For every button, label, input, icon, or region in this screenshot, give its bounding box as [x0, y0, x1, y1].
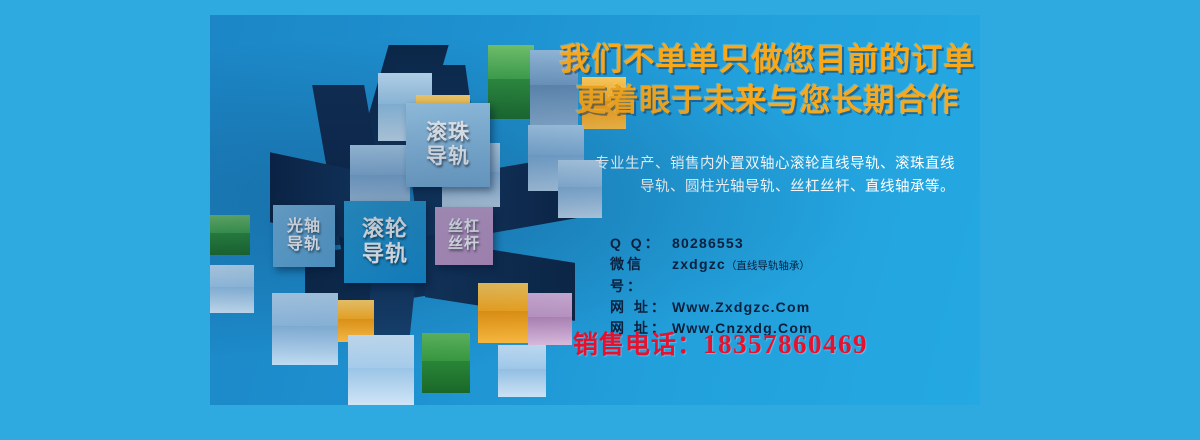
promotional-banner: 滚珠 导轨 光轴 导轨 滚轮 导轨 丝杠 丝杆 我们不单单只做您目前的订单 更着…	[210, 15, 980, 405]
label-line-2: 导轨	[426, 145, 470, 169]
contact-key: Q Q：	[610, 233, 672, 254]
contact-value[interactable]: Www.Zxdgzc.Com	[672, 297, 810, 318]
sales-phone-number: 18357860469	[703, 329, 868, 360]
label-roller-guide-rail[interactable]: 滚轮 导轨	[344, 201, 426, 283]
headline: 我们不单单只做您目前的订单 更着眼于未来与您长期合作	[555, 40, 980, 122]
contact-value: 80286553	[672, 233, 744, 254]
contact-row-wechat: 微信号： zxdgzc （直线导轨轴承）	[610, 254, 960, 297]
description-text: 专业生产、销售内外置双轴心滚轮直线导轨、滚珠直线导轨、圆柱光轴导轨、丝杠丝杆、直…	[595, 153, 955, 200]
cube	[210, 215, 250, 255]
label-line-2: 丝杆	[448, 236, 480, 253]
contact-key: 微信号：	[610, 254, 672, 297]
label-ball-guide-rail[interactable]: 滚珠 导轨	[406, 103, 490, 187]
contact-note: （直线导轨轴承）	[726, 259, 810, 275]
cube	[210, 265, 254, 313]
label-optical-axis-rail[interactable]: 光轴 导轨	[273, 205, 335, 267]
sales-phone-label: 销售电话：	[573, 325, 703, 361]
banner-stage: 滚珠 导轨 光轴 导轨 滚轮 导轨 丝杠 丝杆 我们不单单只做您目前的订单 更着…	[0, 0, 1200, 440]
banner-text-column: 我们不单单只做您目前的订单 更着眼于未来与您长期合作 专业生产、销售内外置双轴心…	[555, 15, 980, 405]
label-lead-screw[interactable]: 丝杠 丝杆	[435, 207, 493, 265]
contact-row-website-1[interactable]: 网 址： Www.Zxdgzc.Com	[610, 297, 960, 318]
cube	[348, 335, 414, 405]
contact-key: 网 址：	[610, 297, 672, 318]
cube	[498, 345, 546, 397]
cube	[422, 333, 470, 393]
label-line-2: 导轨	[287, 236, 321, 254]
label-line-1: 丝杠	[448, 219, 480, 236]
cube	[488, 45, 534, 119]
label-line-1: 光轴	[287, 218, 321, 236]
label-line-1: 滚珠	[426, 121, 470, 145]
cube	[272, 293, 338, 365]
label-line-2: 导轨	[362, 242, 408, 267]
contact-value: zxdgzc	[672, 254, 726, 275]
contact-block: Q Q： 80286553 微信号： zxdgzc （直线导轨轴承） 网 址： …	[610, 233, 960, 339]
cube	[478, 283, 528, 343]
contact-row-qq: Q Q： 80286553	[610, 233, 960, 254]
cube-cluster-graphic: 滚珠 导轨 光轴 导轨 滚轮 导轨 丝杠 丝杆	[210, 15, 590, 405]
headline-line-2: 更着眼于未来与您长期合作	[555, 81, 980, 122]
label-line-1: 滚轮	[362, 217, 408, 242]
headline-line-1: 我们不单单只做您目前的订单	[555, 40, 980, 81]
sales-phone: 销售电话： 18357860469	[573, 325, 973, 361]
